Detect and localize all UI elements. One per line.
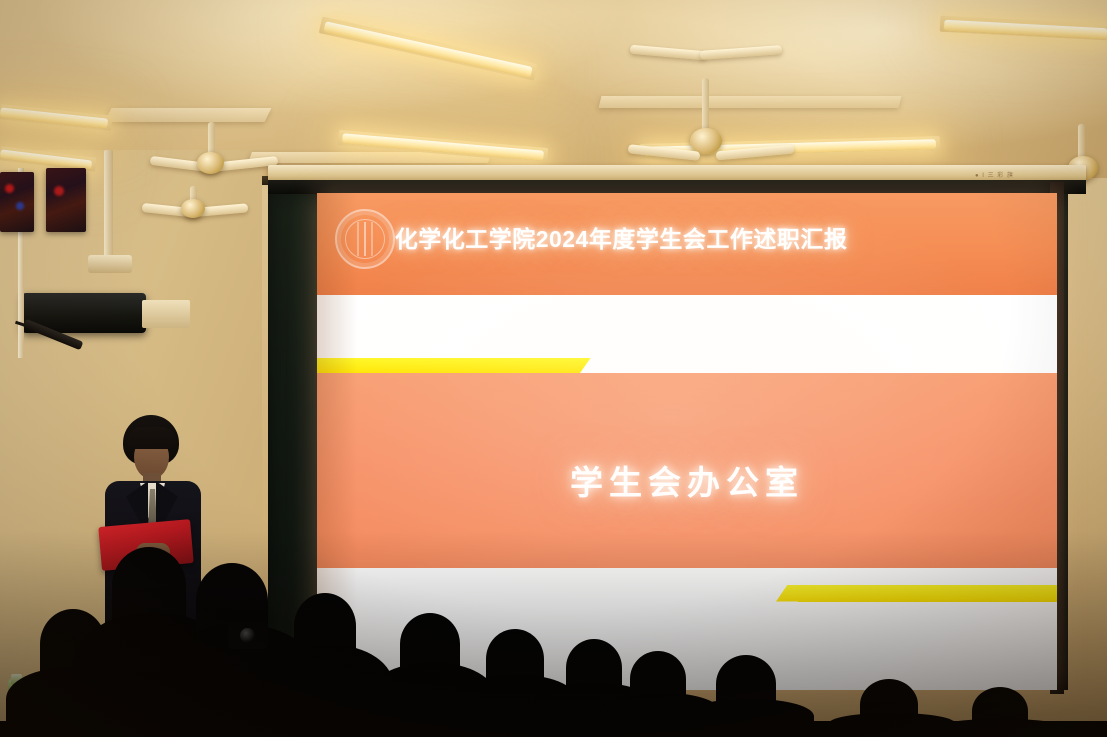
screen-brand-label: ● I 三 彩 旗 — [975, 170, 1014, 179]
photo-scene: ● I 三 彩 旗 化学化工学院2024年度学生会工作述职汇报 学生会办公室 — [0, 0, 1107, 737]
presenter-fringe — [127, 427, 176, 449]
wall-poster — [46, 168, 86, 232]
slide-subject-text: 学生会办公室 — [317, 456, 1057, 504]
slide-white-band-upper — [317, 295, 1057, 367]
screen-top-edge — [268, 180, 1086, 194]
audience-silhouettes — [0, 557, 1107, 737]
ceiling-panel — [599, 96, 902, 108]
camera-lens-icon — [240, 628, 255, 643]
ceiling-panel — [105, 108, 272, 122]
university-seal-emblem — [335, 209, 395, 269]
wall-poster — [0, 172, 34, 232]
slide-title: 化学化工学院2024年度学生会工作述职汇报 — [395, 220, 848, 254]
audience-front-row — [0, 721, 1107, 737]
